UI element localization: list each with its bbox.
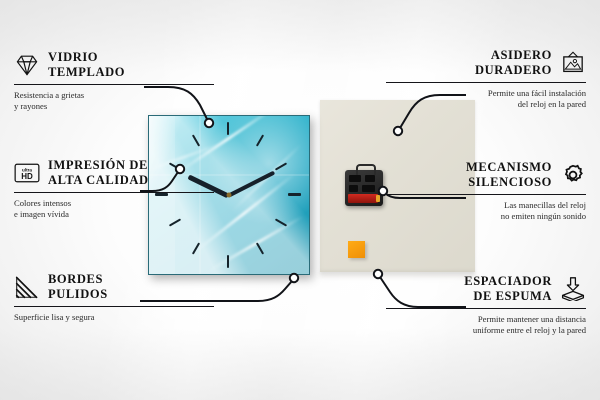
feature-divider	[386, 194, 586, 195]
feature-divider	[14, 306, 214, 307]
svg-text:HD: HD	[21, 172, 33, 181]
feature-divider	[386, 82, 586, 83]
feature-title: MECANISMO SILENCIOSO	[466, 160, 552, 190]
feature-vidrio-templado: VIDRIO TEMPLADO Resistencia a grietas y …	[14, 50, 214, 112]
battery	[348, 194, 378, 203]
polished-edge-icon	[14, 275, 40, 299]
feature-asidero-duradero: ASIDERO DURADERO Permite una fácil insta…	[386, 48, 586, 110]
diamond-icon	[14, 53, 40, 77]
feature-title: VIDRIO TEMPLADO	[48, 50, 125, 80]
feature-description: Superficie lisa y segura	[14, 312, 214, 323]
infographic-canvas: VIDRIO TEMPLADO Resistencia a grietas y …	[0, 0, 600, 400]
gear-icon	[560, 163, 586, 187]
feature-divider	[386, 308, 586, 309]
feature-description: Colores intensos e imagen vívida	[14, 198, 214, 220]
feature-impresion-alta-calidad: ultra HD IMPRESIÓN DE ALTA CALIDAD Color…	[14, 158, 214, 220]
feature-divider	[14, 84, 214, 85]
feature-description: Resistencia a grietas y rayones	[14, 90, 214, 112]
feature-title: ESPACIADOR DE ESPUMA	[464, 274, 552, 304]
feature-description: Las manecillas del reloj no emiten ningú…	[386, 200, 586, 222]
foam-spacer-pad	[348, 241, 365, 258]
feature-title: IMPRESIÓN DE ALTA CALIDAD	[48, 158, 149, 188]
hanger-loop	[356, 164, 376, 175]
feature-description: Permite una fácil instalación del reloj …	[386, 88, 586, 110]
feature-description: Permite mantener una distancia uniforme …	[386, 314, 586, 336]
feature-bordes-pulidos: BORDES PULIDOS Superficie lisa y segura	[14, 272, 214, 323]
feature-title: BORDES PULIDOS	[48, 272, 108, 302]
framed-picture-icon	[560, 51, 586, 75]
clock-mechanism	[345, 170, 383, 206]
feature-title: ASIDERO DURADERO	[475, 48, 552, 78]
ultra-hd-icon: ultra HD	[14, 161, 40, 185]
feature-divider	[14, 192, 214, 193]
feature-mecanismo-silencioso: MECANISMO SILENCIOSO Las manecillas del …	[386, 160, 586, 222]
foam-spacer-icon	[560, 277, 586, 301]
clock-hub	[227, 193, 232, 198]
feature-espaciador-de-espuma: ESPACIADOR DE ESPUMA Permite mantener un…	[386, 274, 586, 336]
